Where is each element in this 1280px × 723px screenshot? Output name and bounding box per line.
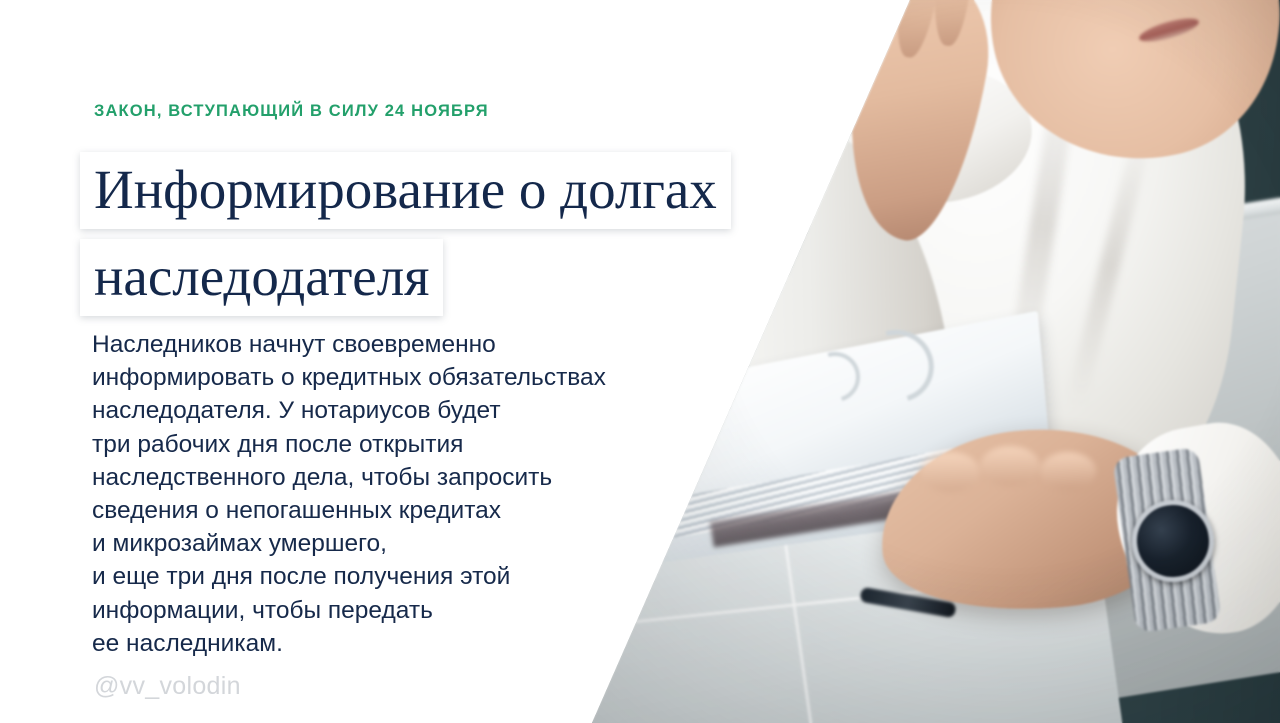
body-line: наследодателя. У нотариусов будет <box>92 394 712 427</box>
headline-line-2: наследодателя <box>80 239 443 316</box>
body-line: информировать о кредитных обязательствах <box>92 361 712 394</box>
knuckle-highlight <box>1040 452 1096 490</box>
watermark-handle: @vv_volodin <box>94 672 241 701</box>
body-line: и микрозаймах умершего, <box>92 527 712 560</box>
body-line: ее наследникам. <box>92 627 712 660</box>
knuckle-highlight <box>920 452 980 492</box>
sheet-fold-line <box>784 545 819 723</box>
body-line: информации, чтобы передать <box>92 594 712 627</box>
knuckle-highlight <box>980 446 1040 486</box>
body-line: сведения о непогашенных кредитах <box>92 494 712 527</box>
body-paragraph: Наследников начнут своевременно информир… <box>92 328 712 660</box>
headline-line-1: Информирование о долгах <box>80 152 731 229</box>
body-line: три рабочих дня после открытия <box>92 428 712 461</box>
body-line: Наследников начнут своевременно <box>92 328 712 361</box>
body-line: наследственного дела, чтобы запросить <box>92 461 712 494</box>
eyebrow-label: ЗАКОН, ВСТУПАЮЩИЙ В СИЛУ 24 НОЯБРЯ <box>94 102 489 121</box>
body-line: и еще три дня после получения этой <box>92 560 712 593</box>
slide-root: ЗАКОН, ВСТУПАЮЩИЙ В СИЛУ 24 НОЯБРЯ Инфор… <box>0 0 1280 723</box>
page-title: Информирование о долгах наследодателя <box>80 152 860 326</box>
